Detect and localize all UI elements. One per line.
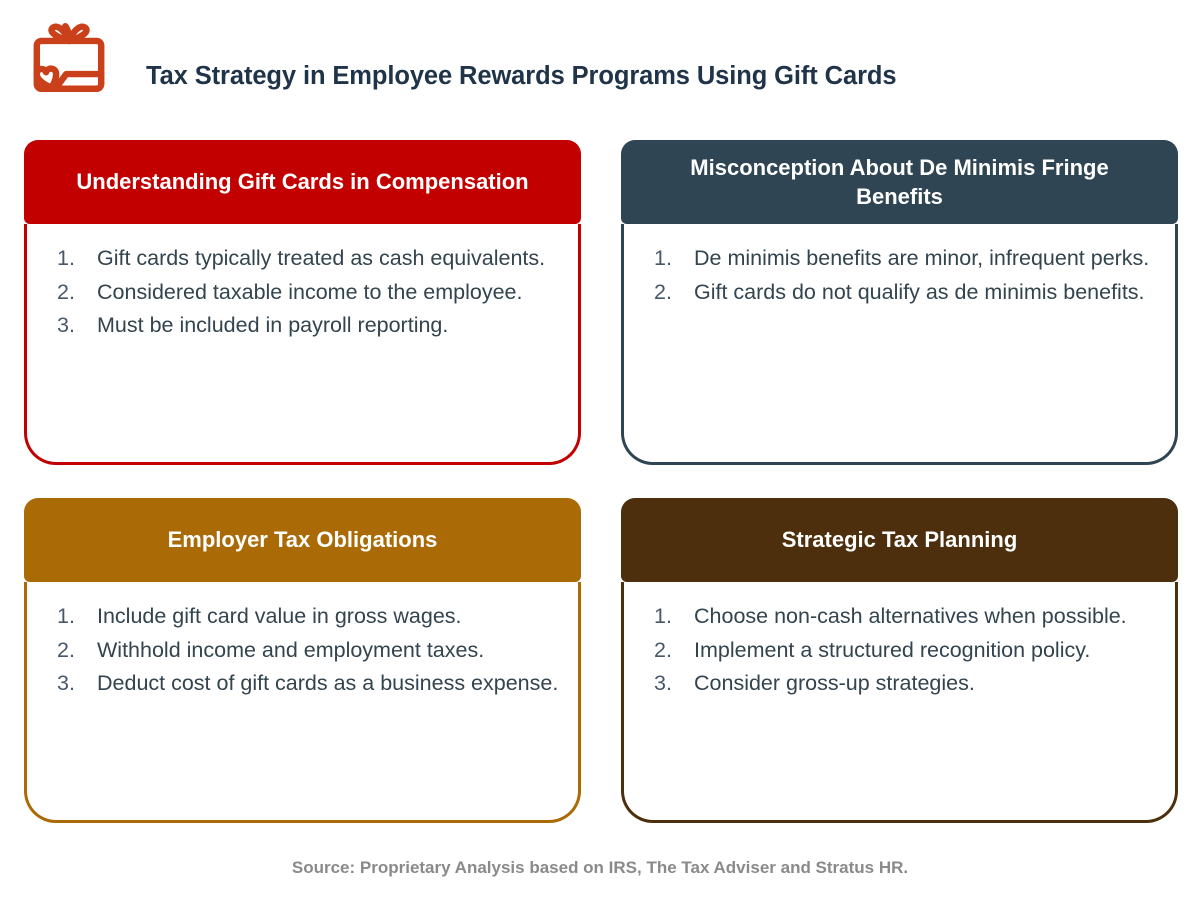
card-item-list: Choose non-cash alternatives when possib…	[642, 600, 1157, 700]
list-item: Deduct cost of gift cards as a business …	[45, 667, 560, 700]
list-item: Gift cards typically treated as cash equ…	[45, 242, 560, 275]
gift-card-icon	[14, 17, 124, 109]
card-body: Include gift card value in gross wages. …	[24, 582, 581, 823]
card-item-list: Gift cards typically treated as cash equ…	[45, 242, 560, 342]
infographic-page: Tax Strategy in Employee Rewards Program…	[0, 0, 1200, 900]
list-item: De minimis benefits are minor, infrequen…	[642, 242, 1157, 275]
list-item: Include gift card value in gross wages.	[45, 600, 560, 633]
list-item: Withhold income and employment taxes.	[45, 634, 560, 667]
source-note: Source: Proprietary Analysis based on IR…	[0, 858, 1200, 878]
list-item: Choose non-cash alternatives when possib…	[642, 600, 1157, 633]
card-strategic-tax-planning: Strategic Tax Planning Choose non-cash a…	[621, 498, 1178, 823]
page-title: Tax Strategy in Employee Rewards Program…	[146, 62, 896, 91]
card-body: De minimis benefits are minor, infrequen…	[621, 224, 1178, 465]
list-item: Consider gross-up strategies.	[642, 667, 1157, 700]
card-header-title: Misconception About De Minimis Fringe Be…	[621, 140, 1178, 224]
card-body: Gift cards typically treated as cash equ…	[24, 224, 581, 465]
cards-grid: Understanding Gift Cards in Compensation…	[24, 140, 1178, 823]
page-header: Tax Strategy in Employee Rewards Program…	[0, 0, 1200, 126]
card-misconception-de-minimis: Misconception About De Minimis Fringe Be…	[621, 140, 1178, 465]
list-item: Considered taxable income to the employe…	[45, 276, 560, 309]
card-understanding-gift-cards: Understanding Gift Cards in Compensation…	[24, 140, 581, 465]
card-header-title: Understanding Gift Cards in Compensation	[24, 140, 581, 224]
card-body: Choose non-cash alternatives when possib…	[621, 582, 1178, 823]
card-item-list: De minimis benefits are minor, infrequen…	[642, 242, 1157, 308]
card-header-title: Employer Tax Obligations	[24, 498, 581, 582]
card-item-list: Include gift card value in gross wages. …	[45, 600, 560, 700]
list-item: Implement a structured recognition polic…	[642, 634, 1157, 667]
card-employer-tax-obligations: Employer Tax Obligations Include gift ca…	[24, 498, 581, 823]
list-item: Must be included in payroll reporting.	[45, 309, 560, 342]
card-header-title: Strategic Tax Planning	[621, 498, 1178, 582]
list-item: Gift cards do not qualify as de minimis …	[642, 276, 1157, 309]
